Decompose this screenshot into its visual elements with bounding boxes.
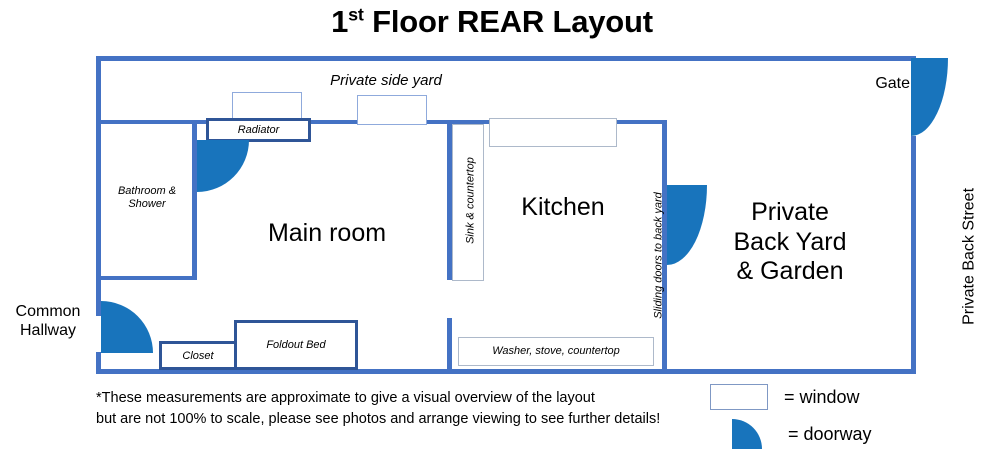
title-prefix: 1 xyxy=(331,4,348,39)
quarter-circle-icon xyxy=(732,419,762,449)
fixture-foldout-bed-label: Foldout Bed xyxy=(266,339,325,351)
fixture-washer-stove-countertop-label: Washer, stove, countertop xyxy=(459,338,653,365)
window-side-yard-right xyxy=(357,95,427,125)
room-label-main-room: Main room xyxy=(212,219,442,249)
fixture-closet: Closet xyxy=(159,341,237,370)
page-title: 1st Floor REAR Layout xyxy=(0,4,984,40)
room-label-private-side-yard: Private side yard xyxy=(286,72,486,90)
fixture-sliding-doors-label: Sliding doors to back yard xyxy=(653,175,666,335)
legend-window-row: = window xyxy=(710,384,860,410)
room-label-kitchen: Kitchen xyxy=(488,193,638,223)
footnote-line1: *These measurements are approximate to g… xyxy=(96,388,696,409)
room-label-back-yard-line3: & Garden xyxy=(700,257,880,287)
outer-wall-top xyxy=(96,56,916,61)
fixture-washer-stove-countertop: Washer, stove, countertop xyxy=(458,337,654,366)
footnote: *These measurements are approximate to g… xyxy=(96,388,696,430)
floor-plan-canvas: 1st Floor REAR Layout Private side yard … xyxy=(0,0,984,461)
window-kitchen-top xyxy=(489,118,617,147)
room-label-bathroom-line1: Bathroom & xyxy=(101,185,193,198)
title-rest: Floor REAR Layout xyxy=(364,4,653,39)
fixture-radiator: Radiator xyxy=(206,118,311,142)
legend-doorway-row: = doorway xyxy=(710,419,872,449)
label-gate: Gate xyxy=(838,75,910,94)
legend-window-label: = window xyxy=(784,387,860,408)
label-common-hallway-line2: Hallway xyxy=(0,322,96,341)
room-label-bathroom-line2: Shower xyxy=(101,198,193,211)
outer-wall-right-lower xyxy=(911,136,916,374)
room-label-back-yard-line1: Private xyxy=(700,198,880,228)
window-icon xyxy=(710,384,768,410)
fixture-sink-countertop-label: Sink & countertop xyxy=(465,140,478,260)
legend-doorway-label: = doorway xyxy=(788,424,872,445)
fixture-foldout-bed: Foldout Bed xyxy=(234,320,358,370)
label-common-hallway: Common Hallway xyxy=(0,303,96,341)
label-private-back-street: Private Back Street xyxy=(961,166,980,346)
interior-wall-bathroom-south xyxy=(96,276,197,280)
room-label-back-yard-line2: Back Yard xyxy=(700,228,880,258)
doorway-side-yard xyxy=(197,140,249,192)
footnote-line2: but are not 100% to scale, please see ph… xyxy=(96,409,696,430)
label-common-hallway-line1: Common xyxy=(0,303,96,322)
room-label-bathroom: Bathroom & Shower xyxy=(101,185,193,211)
doorway-common-hallway xyxy=(101,301,153,353)
fixture-closet-label: Closet xyxy=(182,350,213,362)
title-ordinal-suffix: st xyxy=(348,5,364,25)
interior-wall-kitchen-west-lower xyxy=(447,318,452,374)
doorway-gate xyxy=(911,58,948,136)
room-label-back-yard: Private Back Yard & Garden xyxy=(700,198,880,287)
fixture-radiator-label: Radiator xyxy=(238,124,280,136)
